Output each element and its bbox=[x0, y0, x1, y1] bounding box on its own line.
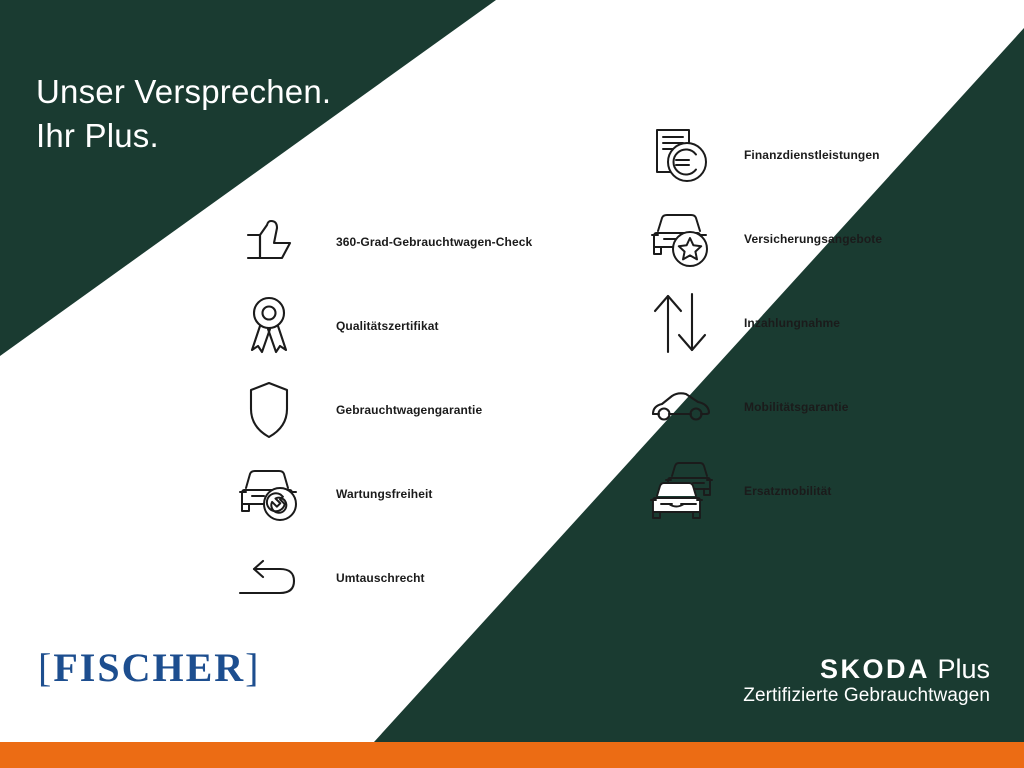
dealer-logo-bracket-close: ] bbox=[245, 645, 260, 690]
document-euro-icon bbox=[648, 122, 714, 188]
skoda-brand-text: SKODA bbox=[820, 654, 930, 684]
list-item: Versicherungsangebote bbox=[648, 197, 1024, 281]
list-item-label: Qualitätszertifikat bbox=[336, 319, 439, 333]
list-item-label: Wartungsfreiheit bbox=[336, 487, 433, 501]
skoda-tagline: Zertifizierte Gebrauchtwagen bbox=[743, 684, 990, 708]
list-item: Umtauschrecht bbox=[236, 536, 636, 620]
award-rosette-icon bbox=[236, 293, 302, 359]
shield-icon bbox=[236, 377, 302, 443]
list-item-label: Ersatzmobilität bbox=[744, 484, 832, 498]
list-item: Finanzdienstleistungen bbox=[648, 113, 1024, 197]
thumbs-up-icon bbox=[236, 209, 302, 275]
list-item-label: 360-Grad-Gebrauchtwagen-Check bbox=[336, 235, 532, 249]
return-arrow-icon bbox=[236, 545, 302, 611]
list-item-label: Mobilitätsgarantie bbox=[744, 400, 848, 414]
headline-line-1: Unser Versprechen. bbox=[36, 73, 331, 110]
car-side-icon bbox=[648, 374, 714, 440]
promo-banner: Unser Versprechen. Ihr Plus. 360-Grad-Ge… bbox=[0, 0, 1024, 768]
car-star-icon bbox=[648, 206, 714, 272]
headline-line-2: Ihr Plus. bbox=[36, 114, 331, 158]
dealer-logo: [FISCHER] bbox=[38, 644, 260, 691]
list-item: 360-Grad-Gebrauchtwagen-Check bbox=[236, 200, 636, 284]
list-item: Wartungsfreiheit bbox=[236, 452, 636, 536]
list-item-label: Gebrauchtwagengarantie bbox=[336, 403, 482, 417]
list-item: Mobilitätsgarantie bbox=[648, 365, 1024, 449]
up-down-arrows-icon bbox=[648, 290, 714, 356]
list-item-label: Versicherungsangebote bbox=[744, 232, 882, 246]
feature-list-right: Finanzdienstleistungen Versicherungsange… bbox=[648, 113, 1024, 533]
two-cars-icon bbox=[648, 458, 714, 524]
list-item: Inzahlungnahme bbox=[648, 281, 1024, 365]
list-item-label: Finanzdienstleistungen bbox=[744, 148, 880, 162]
list-item-label: Umtauschrecht bbox=[336, 571, 425, 585]
skoda-plus-logo: SKODA Plus Zertifizierte Gebrauchtwagen bbox=[743, 654, 990, 708]
dealer-logo-bracket-open: [ bbox=[38, 645, 53, 690]
feature-list-left: 360-Grad-Gebrauchtwagen-Check Qualitätsz… bbox=[236, 200, 636, 620]
car-wrench-icon bbox=[236, 461, 302, 527]
list-item: Qualitätszertifikat bbox=[236, 284, 636, 368]
dealer-logo-name: FISCHER bbox=[53, 645, 245, 690]
orange-accent-bar bbox=[0, 742, 1024, 768]
list-item: Gebrauchtwagengarantie bbox=[236, 368, 636, 452]
skoda-plus-text: Plus bbox=[930, 654, 990, 684]
skoda-logo-row: SKODA Plus bbox=[743, 654, 990, 684]
list-item-label: Inzahlungnahme bbox=[744, 316, 840, 330]
page-title: Unser Versprechen. Ihr Plus. bbox=[36, 26, 331, 202]
list-item: Ersatzmobilität bbox=[648, 449, 1024, 533]
